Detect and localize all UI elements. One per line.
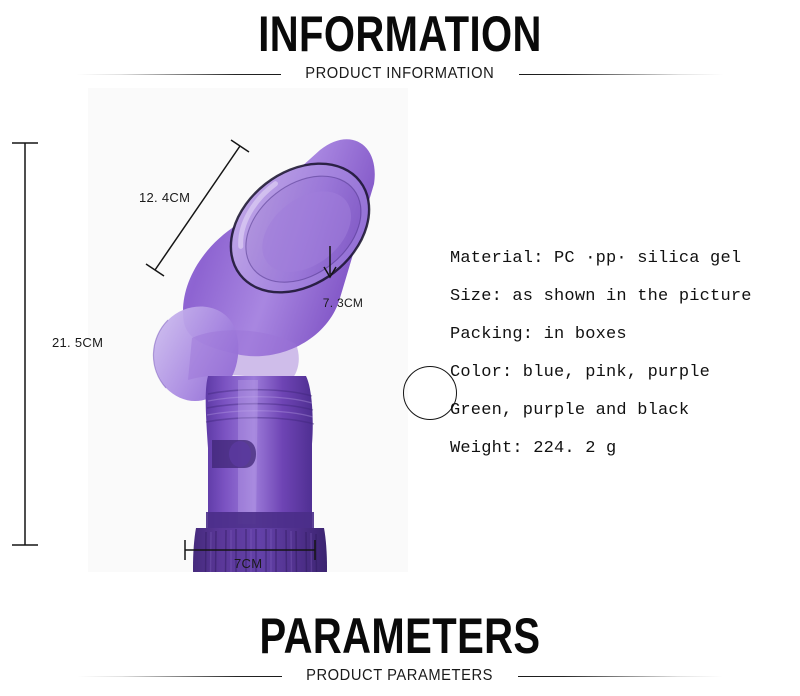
spec-line-packing: Packing: in boxes bbox=[450, 316, 780, 354]
divider-rule-right bbox=[519, 74, 724, 75]
parameters-subtitle-row: PRODUCT PARAMETERS bbox=[0, 664, 800, 688]
information-subtitle: PRODUCT INFORMATION bbox=[305, 65, 494, 83]
information-section-header: INFORMATION PRODUCT INFORMATION bbox=[0, 8, 800, 86]
spec-line-material: Material: PC ·pp· silica gel bbox=[450, 240, 780, 278]
parameters-title: PARAMETERS bbox=[80, 610, 720, 662]
diagonal-dimension-line bbox=[155, 146, 240, 270]
divider-rule-right-bottom bbox=[518, 676, 723, 677]
information-subtitle-row: PRODUCT INFORMATION bbox=[0, 62, 800, 86]
spec-line-color: Color: blue, pink, purple bbox=[450, 354, 780, 392]
spec-line-color-continued: Green, purple and black bbox=[450, 392, 780, 430]
dimension-lines-overlay bbox=[88, 88, 408, 572]
product-photo-panel bbox=[88, 88, 408, 572]
divider-rule-left-bottom bbox=[77, 676, 282, 677]
width-dimension-label: 7CM bbox=[234, 556, 262, 571]
diameter-dimension-label: 7. 3CM bbox=[316, 296, 370, 310]
diagonal-dimension-label: 12. 4CM bbox=[139, 190, 190, 205]
diameter-callout-circle bbox=[403, 366, 457, 420]
product-spec-list: Material: PC ·pp· silica gel Size: as sh… bbox=[450, 240, 780, 468]
information-title: INFORMATION bbox=[80, 8, 720, 60]
parameters-subtitle: PRODUCT PARAMETERS bbox=[307, 667, 494, 685]
divider-rule-left bbox=[76, 74, 281, 75]
parameters-section-header: PARAMETERS PRODUCT PARAMETERS bbox=[0, 610, 800, 688]
spec-line-size: Size: as shown in the picture bbox=[450, 278, 780, 316]
spec-line-weight: Weight: 224. 2 g bbox=[450, 430, 780, 468]
height-dimension-label: 21. 5CM bbox=[52, 335, 103, 350]
